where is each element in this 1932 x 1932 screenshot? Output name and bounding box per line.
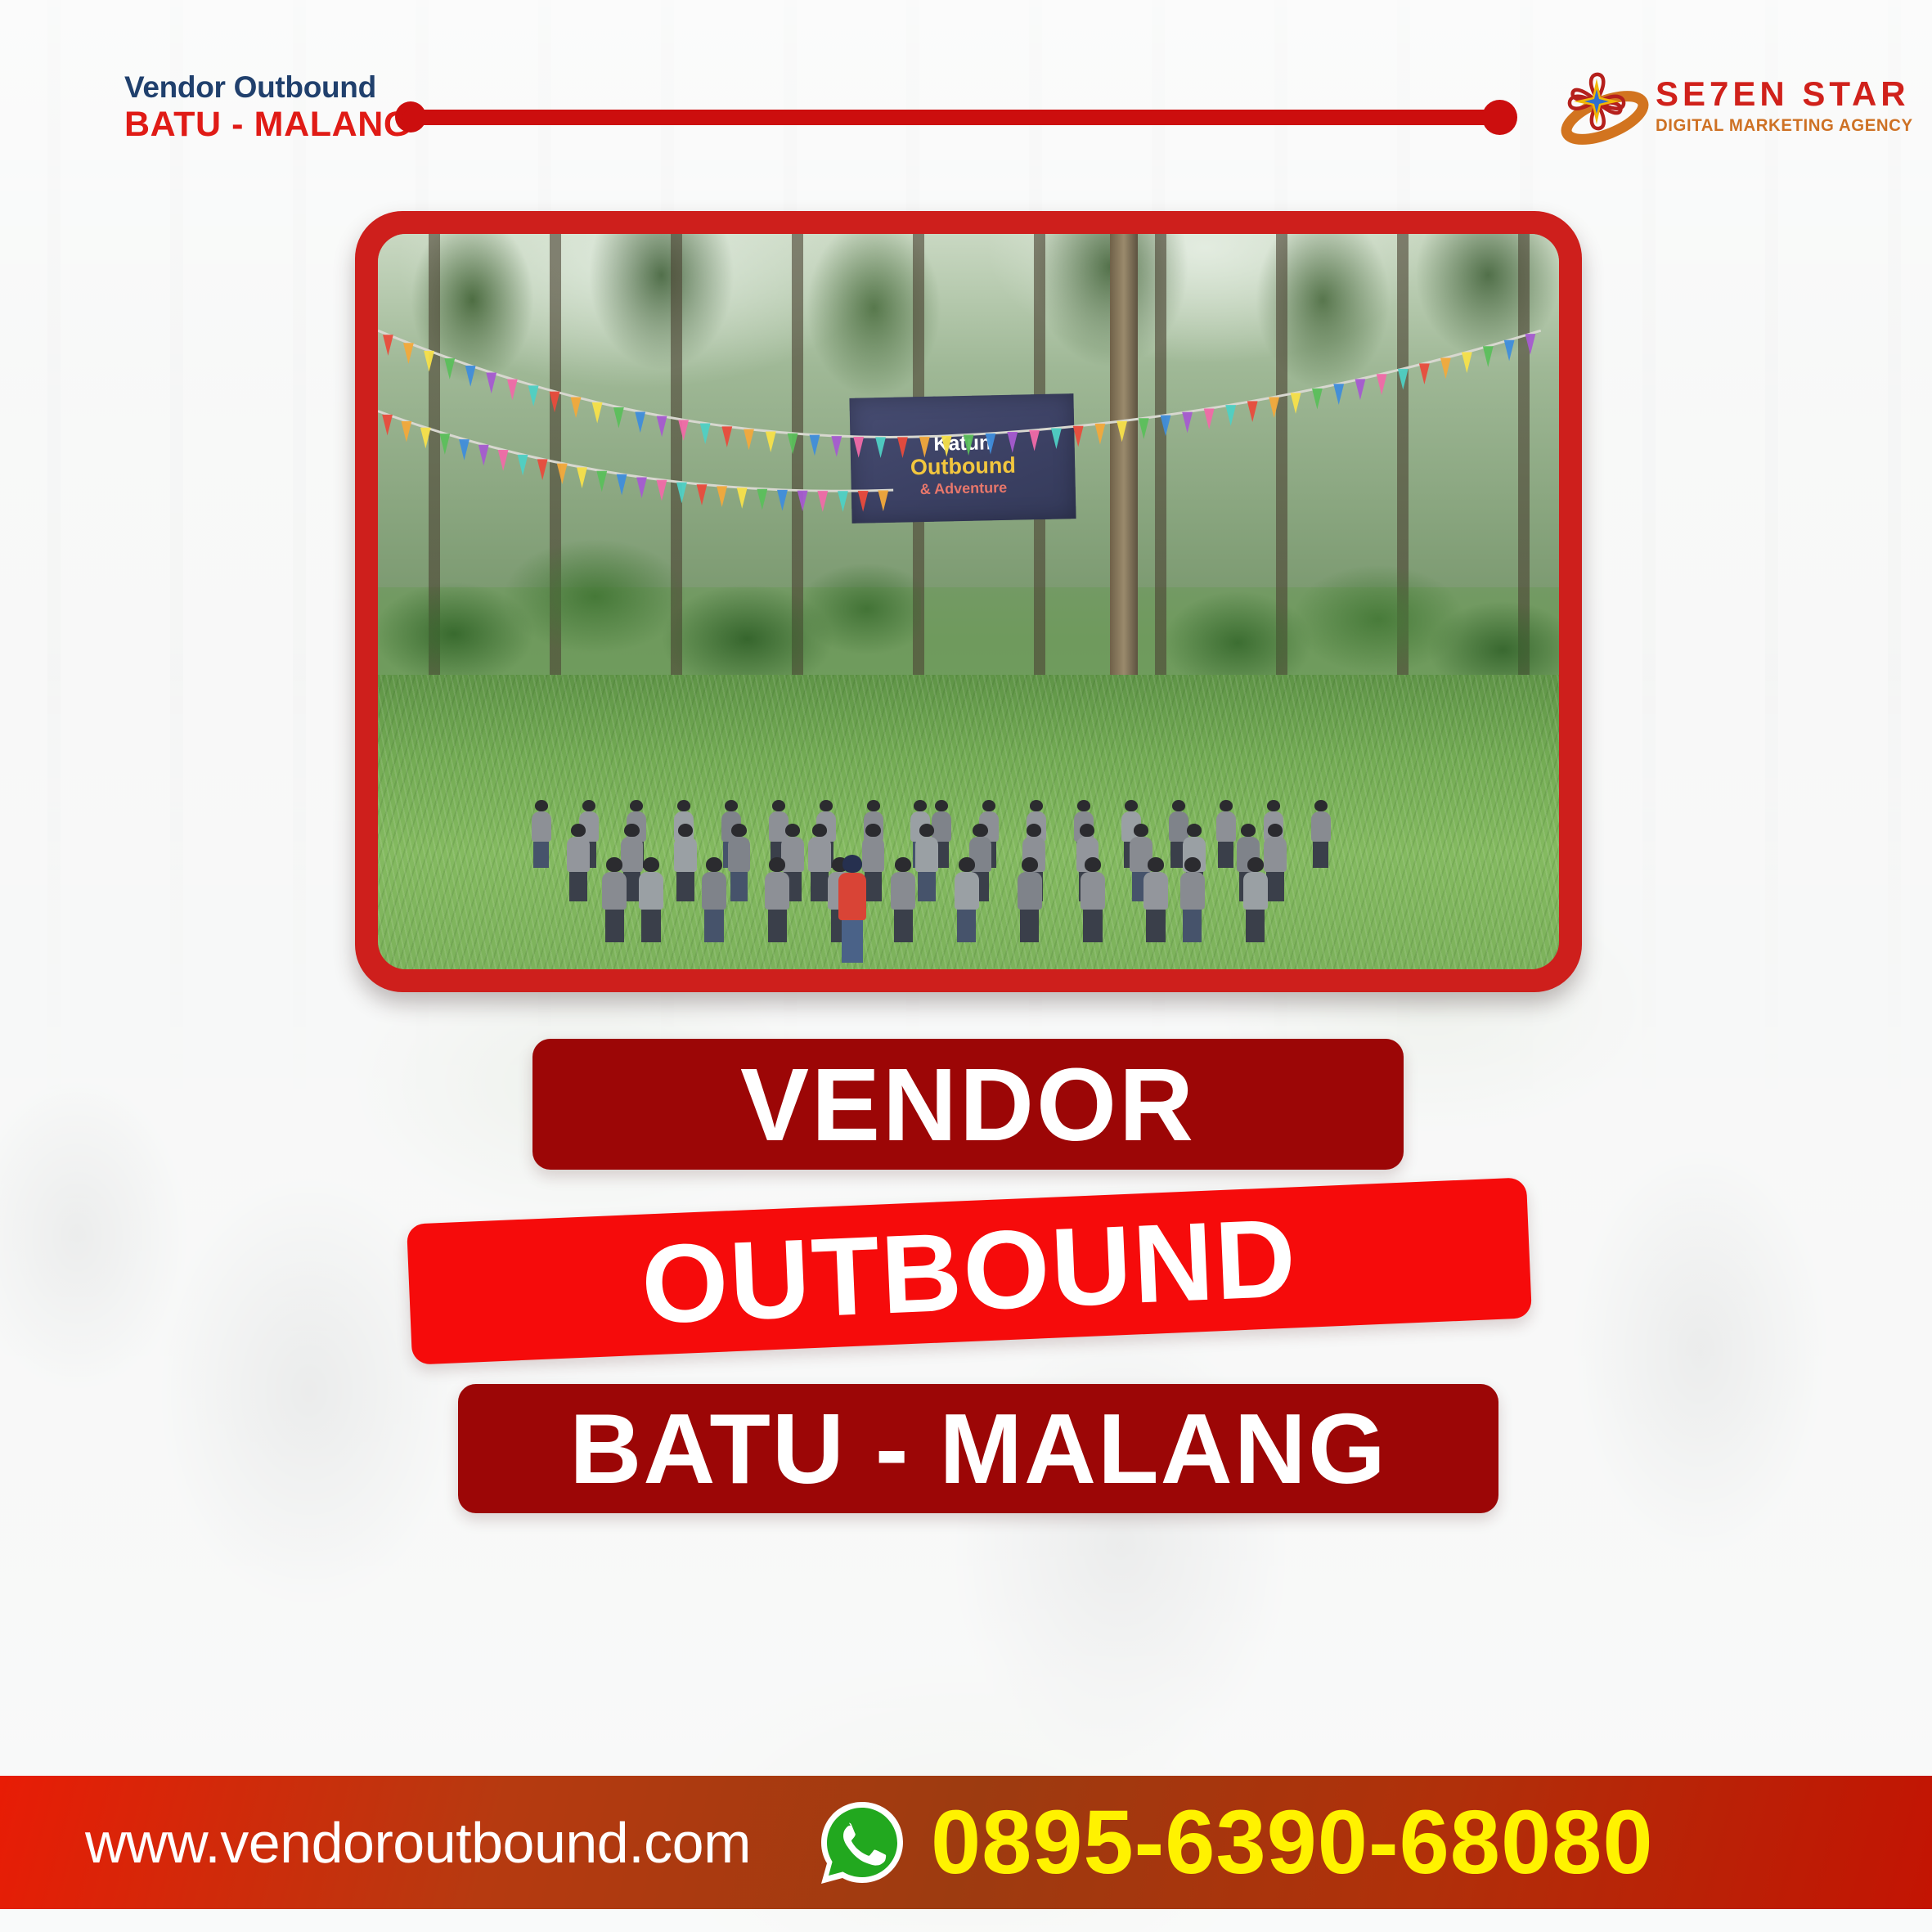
photo-person <box>532 800 551 868</box>
hero-photo-frame: Katun Outbound & Adventure <box>355 211 1582 992</box>
agency-logo: SE7EN STAR DIGITAL MARKETING AGENCY <box>1554 64 1898 152</box>
photo-event-banner-line2: Outbound <box>851 453 1076 480</box>
photo-person <box>639 857 663 942</box>
agency-logo-subtitle: DIGITAL MARKETING AGENCY <box>1656 117 1913 134</box>
whatsapp-icon <box>818 1799 906 1887</box>
header-brand: Vendor Outbound BATU - MALANG <box>124 72 411 142</box>
footer-contact-bar: www.vendoroutbound.com 0895-6390-68080 <box>0 1776 1932 1909</box>
agency-logo-title: SE7EN STAR <box>1656 77 1921 111</box>
photo-person <box>567 824 590 902</box>
photo-person-foreground <box>838 855 866 963</box>
photo-event-banner-line3: & Adventure <box>851 479 1076 498</box>
header-brand-line2: BATU - MALANG <box>124 107 411 142</box>
photo-person <box>728 824 751 902</box>
agency-logo-text: SE7EN STAR DIGITAL MARKETING AGENCY <box>1656 77 1921 134</box>
photo-person <box>955 857 979 942</box>
photo-event-banner-line1: Katun <box>850 431 1075 456</box>
photo-person <box>674 824 697 902</box>
photo-person <box>915 824 938 902</box>
title-bar-batu-malang: BATU - MALANG <box>458 1384 1498 1513</box>
photo-person <box>602 857 627 942</box>
header-brand-line1: Vendor Outbound <box>124 72 411 102</box>
dot-right-icon <box>1482 100 1517 135</box>
photo-person <box>1243 857 1268 942</box>
photo-person <box>1081 857 1105 942</box>
photo-person <box>1018 857 1042 942</box>
footer-phone-number[interactable]: 0895-6390-68080 <box>931 1790 1654 1894</box>
photo-event-banner: Katun Outbound & Adventure <box>849 393 1076 523</box>
hero-photo: Katun Outbound & Adventure <box>378 234 1559 969</box>
seven-star-flower-icon <box>1554 65 1651 151</box>
footer-website-url[interactable]: www.vendoroutbound.com <box>85 1810 751 1876</box>
photo-person <box>765 857 789 942</box>
title-bar-vendor: VENDOR <box>532 1039 1404 1170</box>
photo-person <box>891 857 915 942</box>
header-divider-rule <box>402 110 1512 125</box>
poster-canvas: Vendor Outbound BATU - MALANG <box>0 0 1932 1932</box>
photo-person <box>1180 857 1205 942</box>
photo-person <box>702 857 726 942</box>
photo-person <box>1311 800 1331 868</box>
photo-person <box>1143 857 1168 942</box>
photo-person <box>1216 800 1236 868</box>
photo-crowd <box>378 631 1559 969</box>
